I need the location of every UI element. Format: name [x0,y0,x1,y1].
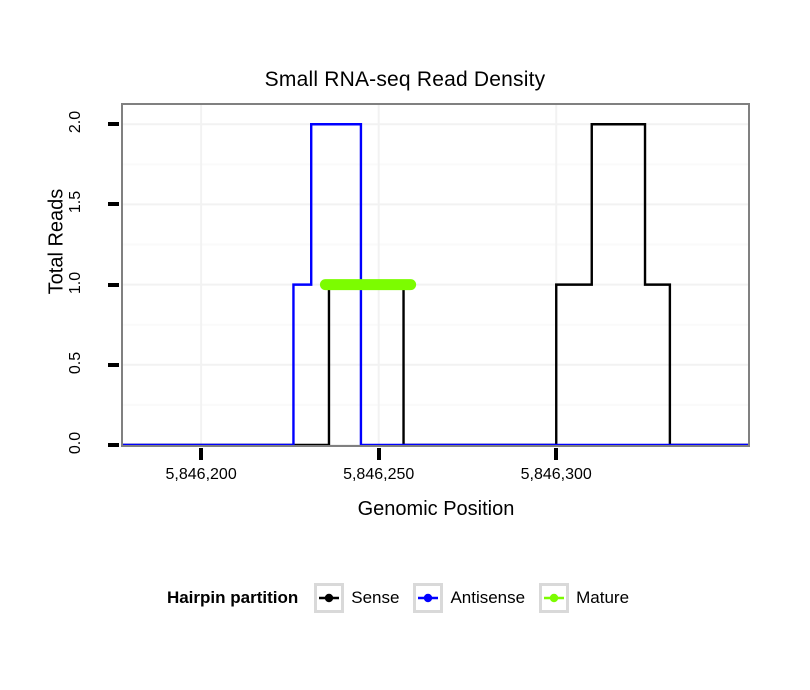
legend-label: Sense [351,588,399,608]
x-tick-mark [199,448,203,460]
y-tick-mark [108,443,119,447]
y-tick-mark [108,283,119,287]
x-tick-label: 5,846,250 [319,466,439,484]
legend-title: Hairpin partition [167,588,298,608]
legend-key-antisense-icon [413,583,443,613]
gridlines [123,105,748,445]
x-tick-label: 5,846,200 [141,466,261,484]
y-tick-label: 1.0 [67,260,85,306]
x-tick-mark [377,448,381,460]
y-tick-mark [108,122,119,126]
y-axis-title: Total Reads [46,132,69,352]
legend-label: Antisense [450,588,525,608]
legend-items: SenseAntisenseMature [314,583,643,613]
plot-area [123,105,748,445]
y-tick-label: 0.5 [67,340,85,386]
y-tick-mark [108,363,119,367]
plot-panel [121,103,750,447]
x-axis-title: Genomic Position [121,498,751,521]
x-tick-label: 5,846,300 [496,466,616,484]
y-tick-label: 2.0 [67,99,85,145]
legend-label: Mature [576,588,629,608]
legend-key-sense-icon [314,583,344,613]
y-tick-label: 1.5 [67,179,85,225]
legend-item-antisense[interactable]: Antisense [413,583,525,613]
chart-title: Small RNA-seq Read Density [0,68,810,92]
y-tick-label: 0.0 [67,420,85,466]
legend: Hairpin partition SenseAntisenseMature [0,583,810,613]
legend-key-mature-icon [539,583,569,613]
chart-page: Small RNA-seq Read Density Total Reads G… [0,0,810,690]
legend-item-sense[interactable]: Sense [314,583,399,613]
x-tick-mark [554,448,558,460]
legend-item-mature[interactable]: Mature [539,583,629,613]
y-tick-mark [108,202,119,206]
